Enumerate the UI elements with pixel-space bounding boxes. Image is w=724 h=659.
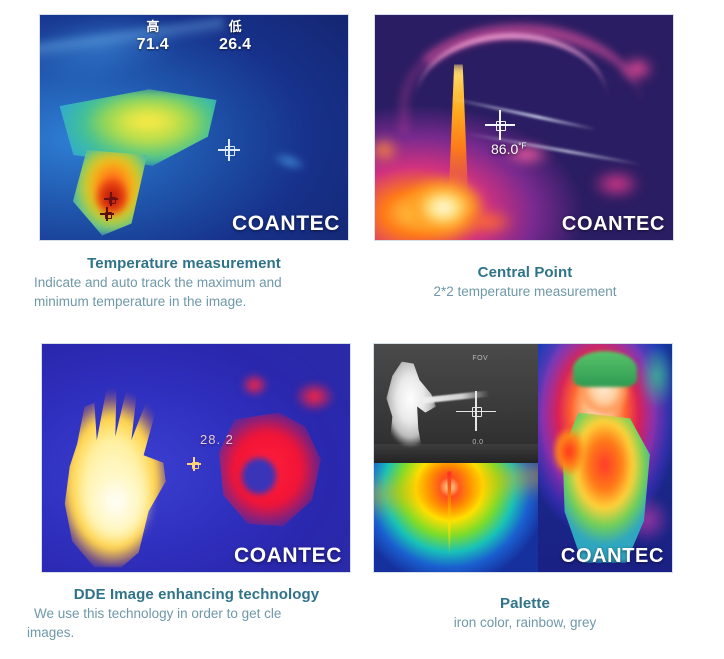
low-value: 26.4 bbox=[219, 35, 251, 55]
caption-body-line1: We use this technology in order to get c… bbox=[34, 604, 354, 623]
watermark-coantec: COANTEC bbox=[561, 545, 664, 568]
thermal-spot bbox=[613, 51, 661, 87]
high-label: 高 bbox=[137, 19, 169, 35]
grey-overlay-text-fov: FOV bbox=[472, 355, 488, 362]
central-point-readout: 86.0°F bbox=[491, 141, 526, 157]
watermark-coantec: COANTEC bbox=[232, 212, 340, 236]
watermark-coantec: COANTEC bbox=[562, 213, 665, 236]
caption-title: Central Point bbox=[375, 263, 675, 282]
grey-reticle-icon bbox=[456, 391, 496, 431]
feature-card-palette: FOV 0.0 COANTEC Palette iron color, rain… bbox=[363, 330, 724, 659]
iron-background-green bbox=[634, 349, 672, 417]
caption-body-line1: Indicate and auto track the maximum and bbox=[34, 273, 364, 292]
caption-body-line2: minimum temperature in the image. bbox=[34, 292, 364, 311]
thermal-image-temperature-measurement: 高 71.4 低 26.4 COANTEC bbox=[40, 15, 348, 240]
low-readout: 低 26.4 bbox=[219, 19, 251, 55]
thermal-image-dde: 28. 2 COANTEC bbox=[42, 344, 350, 572]
min-temperature-crosshair-icon bbox=[218, 139, 240, 161]
feature-card-temperature-measurement: 高 71.4 低 26.4 COANTEC Temperature measur… bbox=[0, 0, 363, 330]
thermal-spot bbox=[236, 369, 273, 401]
feature-card-dde-image-enhancing-technology: 28. 2 COANTEC DDE Image enhancing techno… bbox=[0, 330, 363, 659]
thermal-image-palette: FOV 0.0 COANTEC bbox=[374, 344, 672, 572]
rainbow-band bbox=[374, 463, 538, 520]
caption-temperature-measurement: Temperature measurement Indicate and aut… bbox=[34, 254, 364, 311]
caption-palette: Palette iron color, rainbow, grey bbox=[375, 594, 675, 632]
low-label: 低 bbox=[219, 19, 251, 35]
thermal-spot bbox=[452, 204, 524, 240]
caption-title: Temperature measurement bbox=[34, 254, 334, 273]
iron-person-arm bbox=[549, 422, 589, 481]
palette-grey-panel: FOV 0.0 bbox=[374, 344, 538, 463]
grey-overlay-text-value: 0.0 bbox=[472, 439, 483, 446]
feature-grid: 高 71.4 低 26.4 COANTEC Temperature measur… bbox=[0, 0, 724, 659]
thermal-image-central-point: 86.0°F COANTEC bbox=[375, 15, 673, 240]
grey-person-shape bbox=[381, 353, 440, 455]
caption-central-point: Central Point 2*2 temperature measuremen… bbox=[375, 263, 675, 301]
caption-body-line1: iron color, rainbow, grey bbox=[375, 613, 675, 632]
feature-card-central-point: 86.0°F COANTEC Central Point 2*2 tempera… bbox=[363, 0, 724, 330]
caption-body-line2: images. bbox=[27, 623, 347, 642]
thermal-palm-glow bbox=[73, 449, 159, 554]
iron-person-helmet bbox=[573, 351, 637, 387]
dde-crosshair-icon bbox=[187, 457, 201, 471]
palette-iron-panel bbox=[538, 344, 672, 572]
palette-rainbow-panel bbox=[374, 463, 538, 572]
watermark-coantec: COANTEC bbox=[234, 544, 342, 568]
high-low-readout: 高 71.4 低 26.4 bbox=[40, 19, 348, 55]
caption-dde: DDE Image enhancing technology We use th… bbox=[34, 585, 374, 642]
central-point-unit: °F bbox=[518, 141, 526, 150]
max-temperature-crosshair-secondary-icon bbox=[100, 207, 114, 221]
high-value: 71.4 bbox=[137, 35, 169, 55]
high-readout: 高 71.4 bbox=[137, 19, 169, 55]
caption-title: Palette bbox=[375, 594, 675, 613]
thermal-spot bbox=[288, 376, 340, 417]
thermal-region-hot-core bbox=[83, 101, 200, 146]
max-temperature-crosshair-icon bbox=[104, 192, 118, 206]
caption-title: DDE Image enhancing technology bbox=[34, 585, 359, 604]
feature-grid-page: 高 71.4 低 26.4 COANTEC Temperature measur… bbox=[0, 0, 724, 659]
central-point-value: 86.0 bbox=[491, 141, 518, 157]
dde-point-readout: 28. 2 bbox=[200, 432, 234, 447]
central-point-crosshair-icon bbox=[485, 110, 515, 140]
caption-body-line1: 2*2 temperature measurement bbox=[375, 282, 675, 301]
thermal-spot bbox=[584, 164, 650, 205]
